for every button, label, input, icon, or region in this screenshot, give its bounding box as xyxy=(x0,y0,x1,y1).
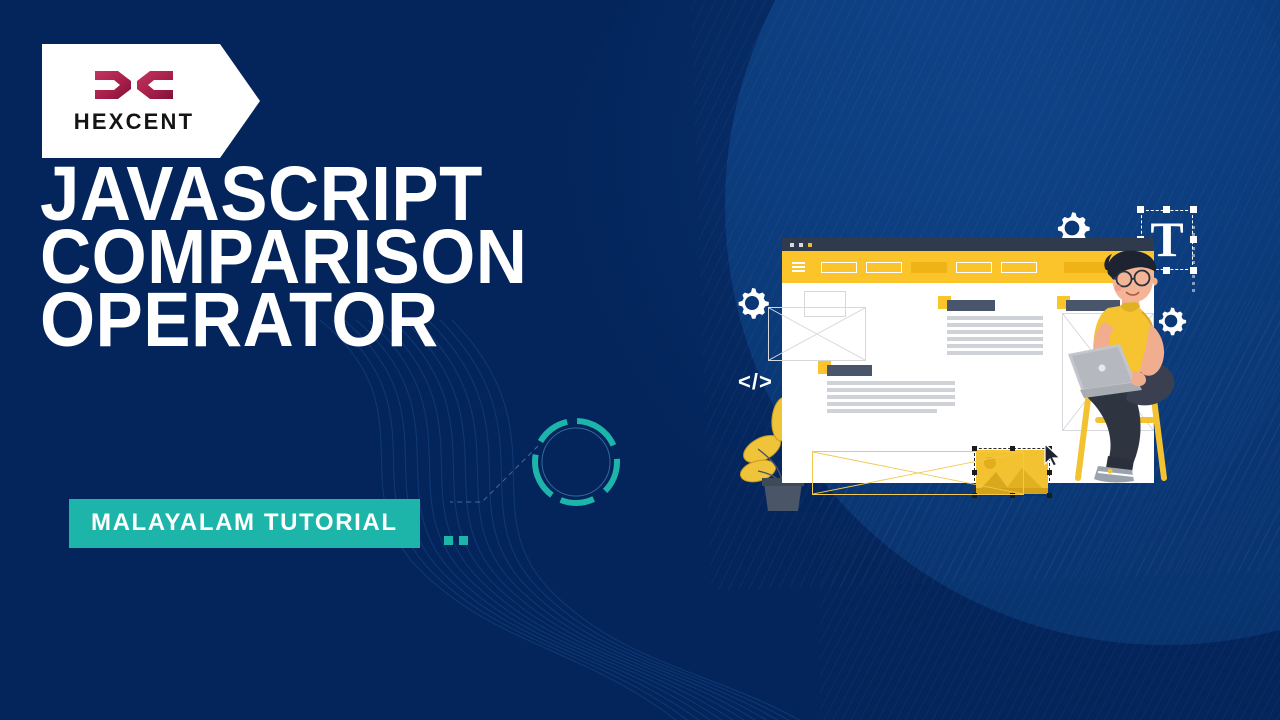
window-dot-3 xyxy=(808,243,812,247)
brand-name: HEXCENT xyxy=(74,109,195,135)
dashed-connector-line xyxy=(440,440,630,550)
content-heading-lower xyxy=(818,361,872,376)
nav-item-3-active[interactable] xyxy=(911,262,947,273)
hamburger-menu-icon[interactable] xyxy=(792,262,805,272)
window-dot-1 xyxy=(790,243,794,247)
subtitle-badge: MALAYALAM TUTORIAL xyxy=(69,499,420,548)
handle-tc xyxy=(1163,206,1170,213)
wireframe-box-bottom xyxy=(812,451,1024,495)
page-title: JAVASCRIPT COMPARISON OPERATOR xyxy=(40,163,720,352)
handle-mr xyxy=(1190,236,1197,243)
heading-bar-2 xyxy=(827,365,872,376)
brand-logo: HEXCENT xyxy=(42,44,260,158)
content-lines-lower xyxy=(827,381,955,413)
content-heading-upper xyxy=(938,296,995,311)
gear-icon-left xyxy=(732,283,772,323)
content-lines-upper xyxy=(947,316,1043,355)
wireframe-image-left xyxy=(768,307,866,361)
title-line-3: OPERATOR xyxy=(40,289,666,352)
person-with-laptop xyxy=(1046,250,1196,485)
connector-square-2 xyxy=(459,536,468,545)
window-dot-2 xyxy=(799,243,803,247)
nav-item-1[interactable] xyxy=(821,262,857,273)
handle-tl xyxy=(1137,206,1144,213)
nav-item-4[interactable] xyxy=(956,262,992,273)
nav-item-5[interactable] xyxy=(1001,262,1037,273)
hexcent-x-logo-icon xyxy=(94,67,174,105)
heading-bar xyxy=(947,300,995,311)
nav-item-2[interactable] xyxy=(866,262,902,273)
handle-tr xyxy=(1190,206,1197,213)
connector-square-1 xyxy=(444,536,453,545)
thumbnail-canvas: HEXCENT JAVASCRIPT COMPARISON OPERATOR M… xyxy=(0,0,1280,720)
img-handle-br[interactable] xyxy=(1047,493,1052,498)
hero-illustration: T </> xyxy=(716,195,1232,515)
